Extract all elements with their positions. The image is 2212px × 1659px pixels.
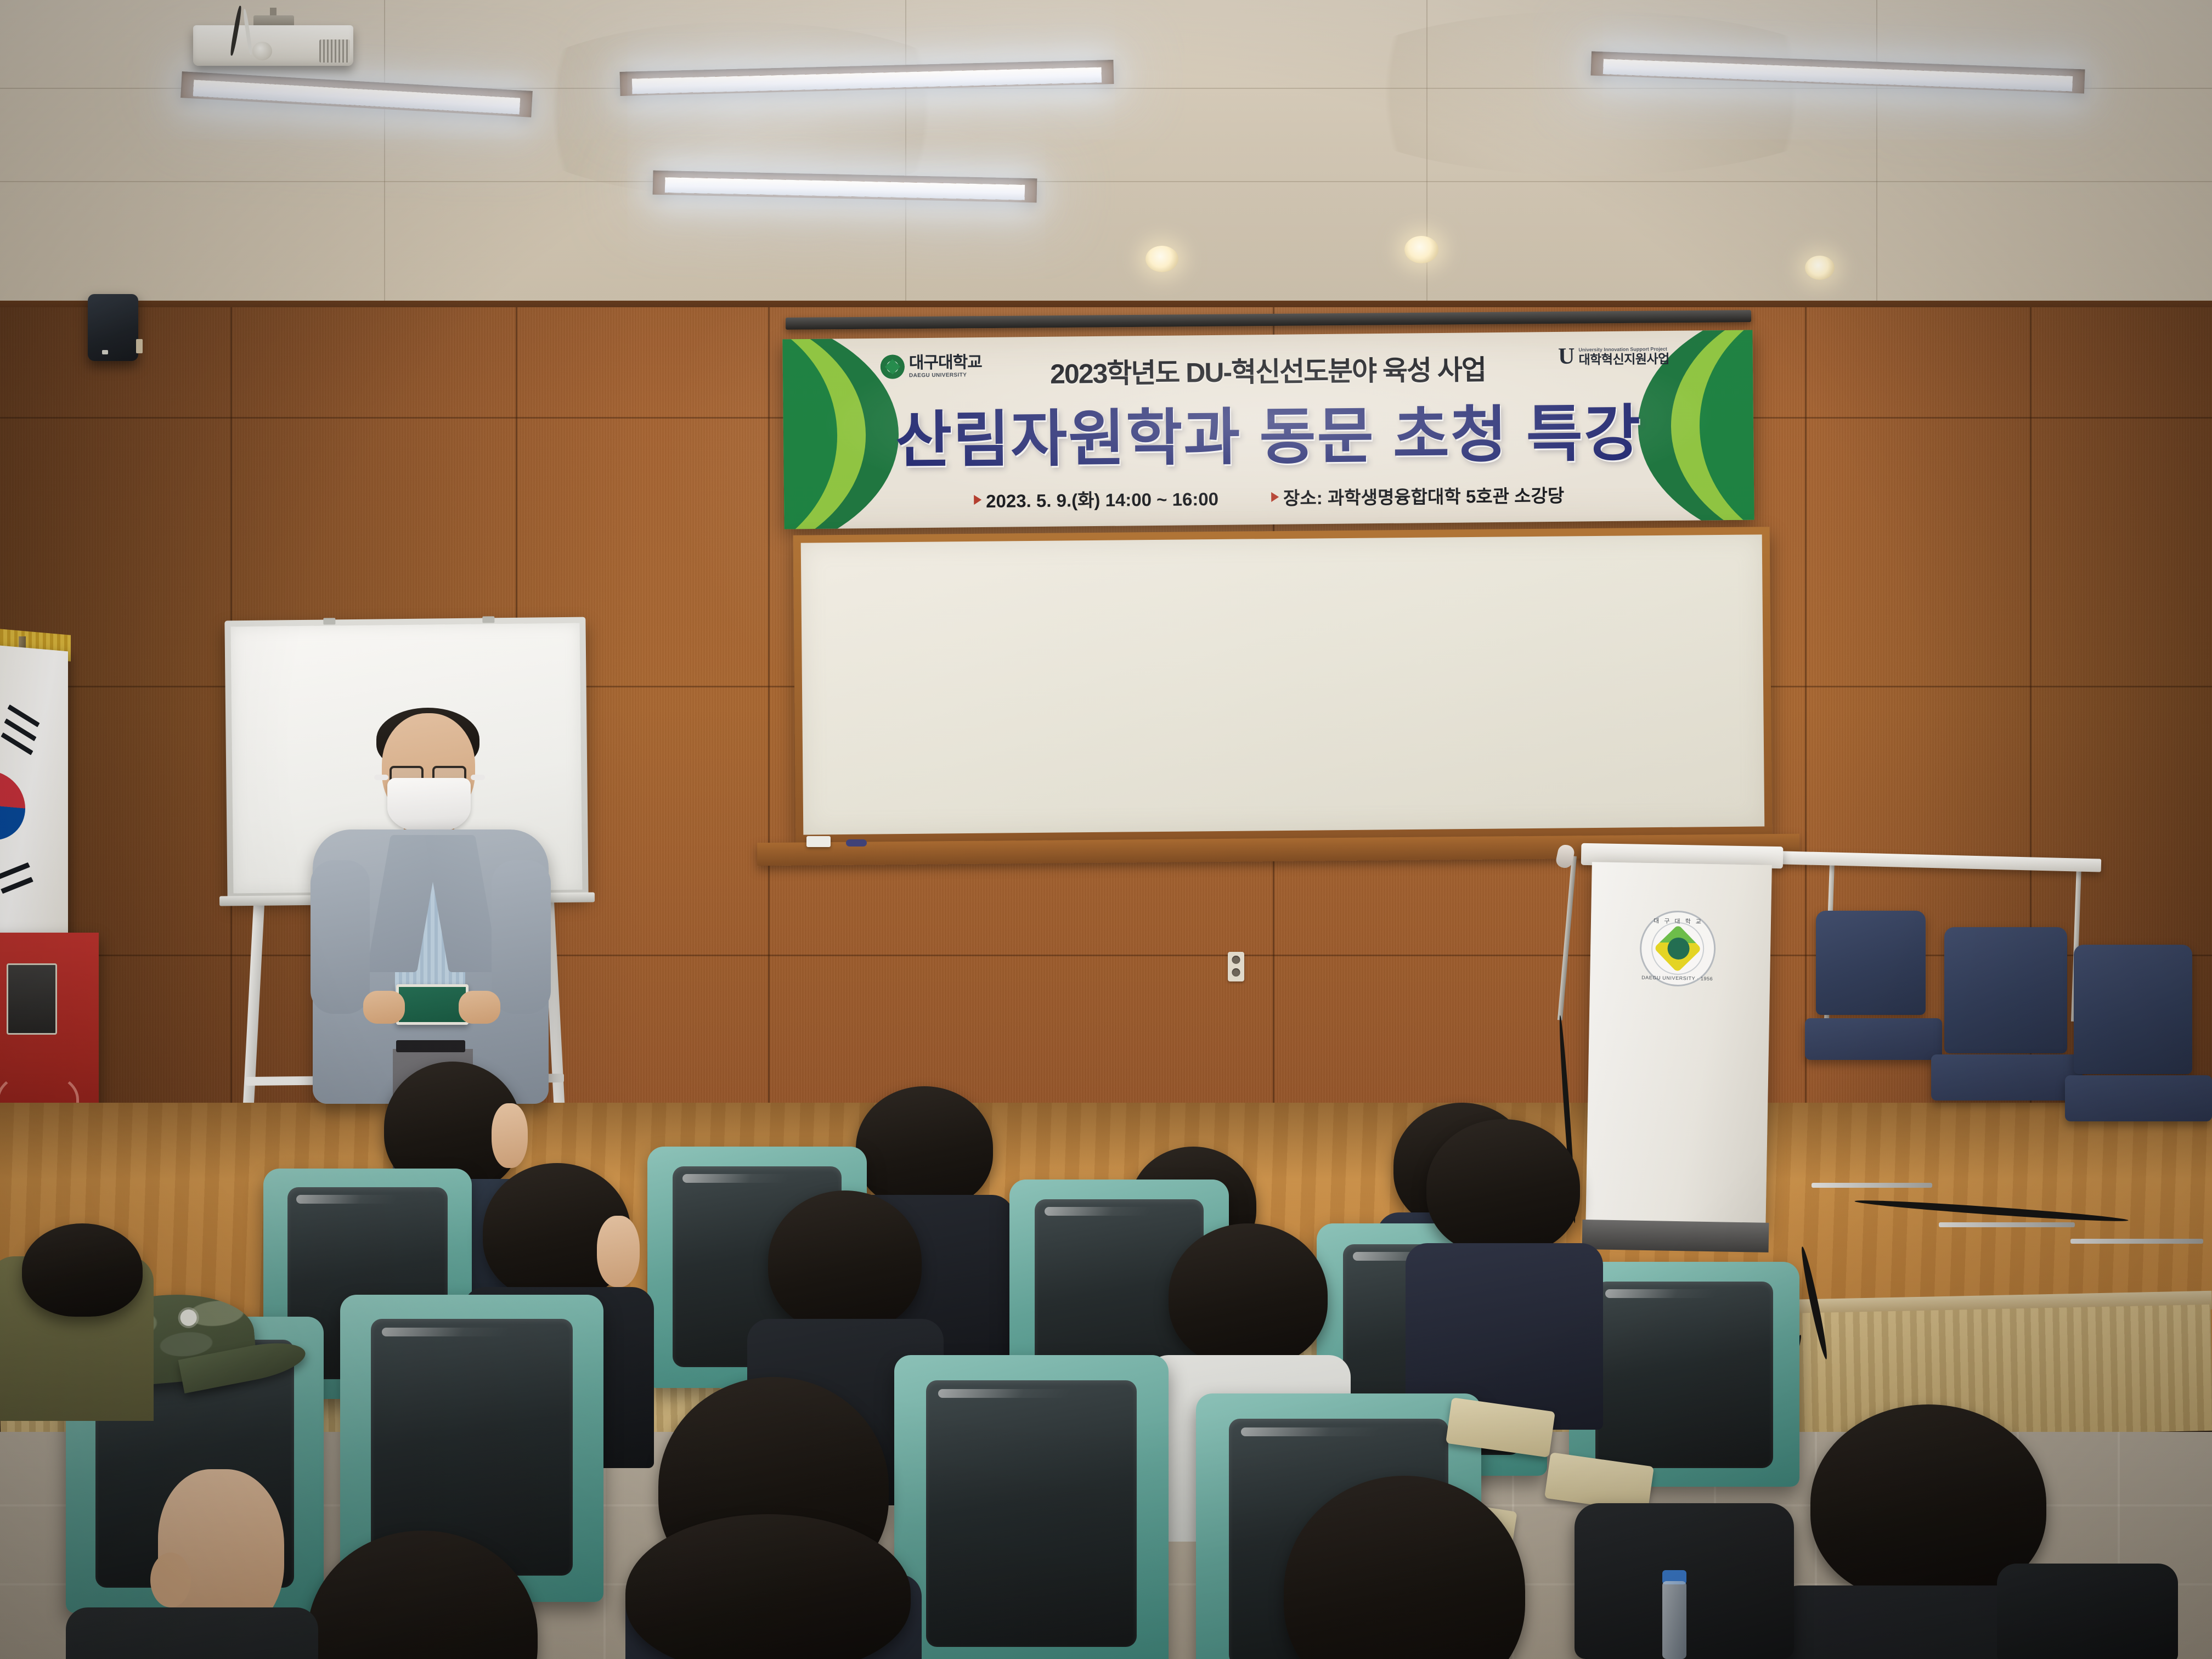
- lecture-hall-photo: 대구대학교 DAEGU UNIVERSITY U University Inno…: [0, 0, 2212, 1659]
- banner-datetime: 2023. 5. 9.(화) 14:00 ~ 16:00: [974, 484, 1218, 513]
- jacket-sleeve: [492, 860, 551, 1014]
- speaker-bracket: [136, 339, 143, 353]
- daegu-university-crest-icon: 대 구 대 학 교 DAEGU UNIVERSITY · 1956: [1639, 910, 1716, 987]
- lectern: 대 구 대 학 교 DAEGU UNIVERSITY · 1956: [1582, 843, 1776, 1252]
- whiteboard-eraser: [806, 836, 831, 847]
- projector-vent: [319, 39, 350, 63]
- auditorium-seat: [1569, 1262, 1799, 1492]
- ceiling-downlight: [1404, 236, 1438, 263]
- lectern-base: [1582, 1220, 1769, 1252]
- korean-flag: [0, 644, 68, 959]
- audience-member: [625, 1514, 911, 1659]
- wall-speaker-icon: [88, 294, 138, 361]
- triangle-marker-icon: [1271, 492, 1279, 502]
- ceiling-projector: [193, 15, 353, 68]
- ceiling-downlight: [1145, 246, 1178, 272]
- presenter-hand: [459, 991, 500, 1024]
- audience-member-with-cap: [33, 1388, 307, 1659]
- banner-venue: 장소: 과학생명융합대학 5호관 소강당: [1271, 481, 1565, 510]
- audience-hair: [22, 1223, 143, 1317]
- ceiling-downlight: [1805, 256, 1835, 280]
- cabinet-label: [7, 963, 57, 1035]
- taeguk-circle-icon: [0, 768, 25, 843]
- ceiling-texture: [1317, 11, 1865, 176]
- banner-title: 산림자원학과 동문 초청 특강: [783, 383, 1753, 481]
- ceiling-seam: [0, 181, 2212, 182]
- projection-screen-surface: [801, 534, 1765, 834]
- projector-body: [193, 25, 353, 66]
- ceiling-texture: [494, 22, 988, 198]
- audience-member: [1284, 1476, 1525, 1659]
- triangle-marker-icon: [974, 495, 981, 505]
- marker-pen: [846, 839, 867, 847]
- whiteboard-clip: [323, 618, 335, 624]
- ceiling-seam: [384, 0, 385, 307]
- presenter-hand: [363, 991, 405, 1024]
- mask-strap: [374, 775, 388, 780]
- event-banner: 대구대학교 DAEGU UNIVERSITY U University Inno…: [782, 330, 1754, 529]
- presenter-belt: [396, 1040, 465, 1052]
- projector-lens: [252, 42, 272, 60]
- audience-member: [1426, 1119, 1580, 1306]
- projection-screen: [793, 527, 1773, 843]
- face-mask-icon: [387, 778, 471, 833]
- stacking-chair: [2065, 945, 2212, 1241]
- audience-member: [768, 1190, 922, 1377]
- auditorium-seat: [894, 1355, 1169, 1659]
- whiteboard-clip: [482, 616, 494, 623]
- audience-member: [307, 1531, 538, 1659]
- green-booklet: [396, 984, 469, 1025]
- jacket-sleeve: [311, 860, 370, 1014]
- ceiling-seam: [1876, 0, 1877, 307]
- speaker-led: [102, 350, 108, 354]
- audience-member: [1169, 1223, 1328, 1415]
- mask-strap: [471, 775, 485, 780]
- backpack: [1997, 1564, 2178, 1659]
- crest-diamond-icon: [1654, 924, 1702, 973]
- water-bottle: [1662, 1581, 1686, 1659]
- banner-datetime-text: 2023. 5. 9.(화) 14:00 ~ 16:00: [986, 484, 1218, 513]
- crest-inner: [1651, 922, 1705, 975]
- banner-meta-row: 2023. 5. 9.(화) 14:00 ~ 16:00 장소: 과학생명융합대…: [784, 479, 1754, 515]
- crest-text-ko: 대 구 대 학 교: [1642, 916, 1714, 926]
- banner-venue-text: 장소: 과학생명융합대학 5호관 소강당: [1283, 481, 1565, 510]
- wall-outlet-icon: [1228, 952, 1244, 981]
